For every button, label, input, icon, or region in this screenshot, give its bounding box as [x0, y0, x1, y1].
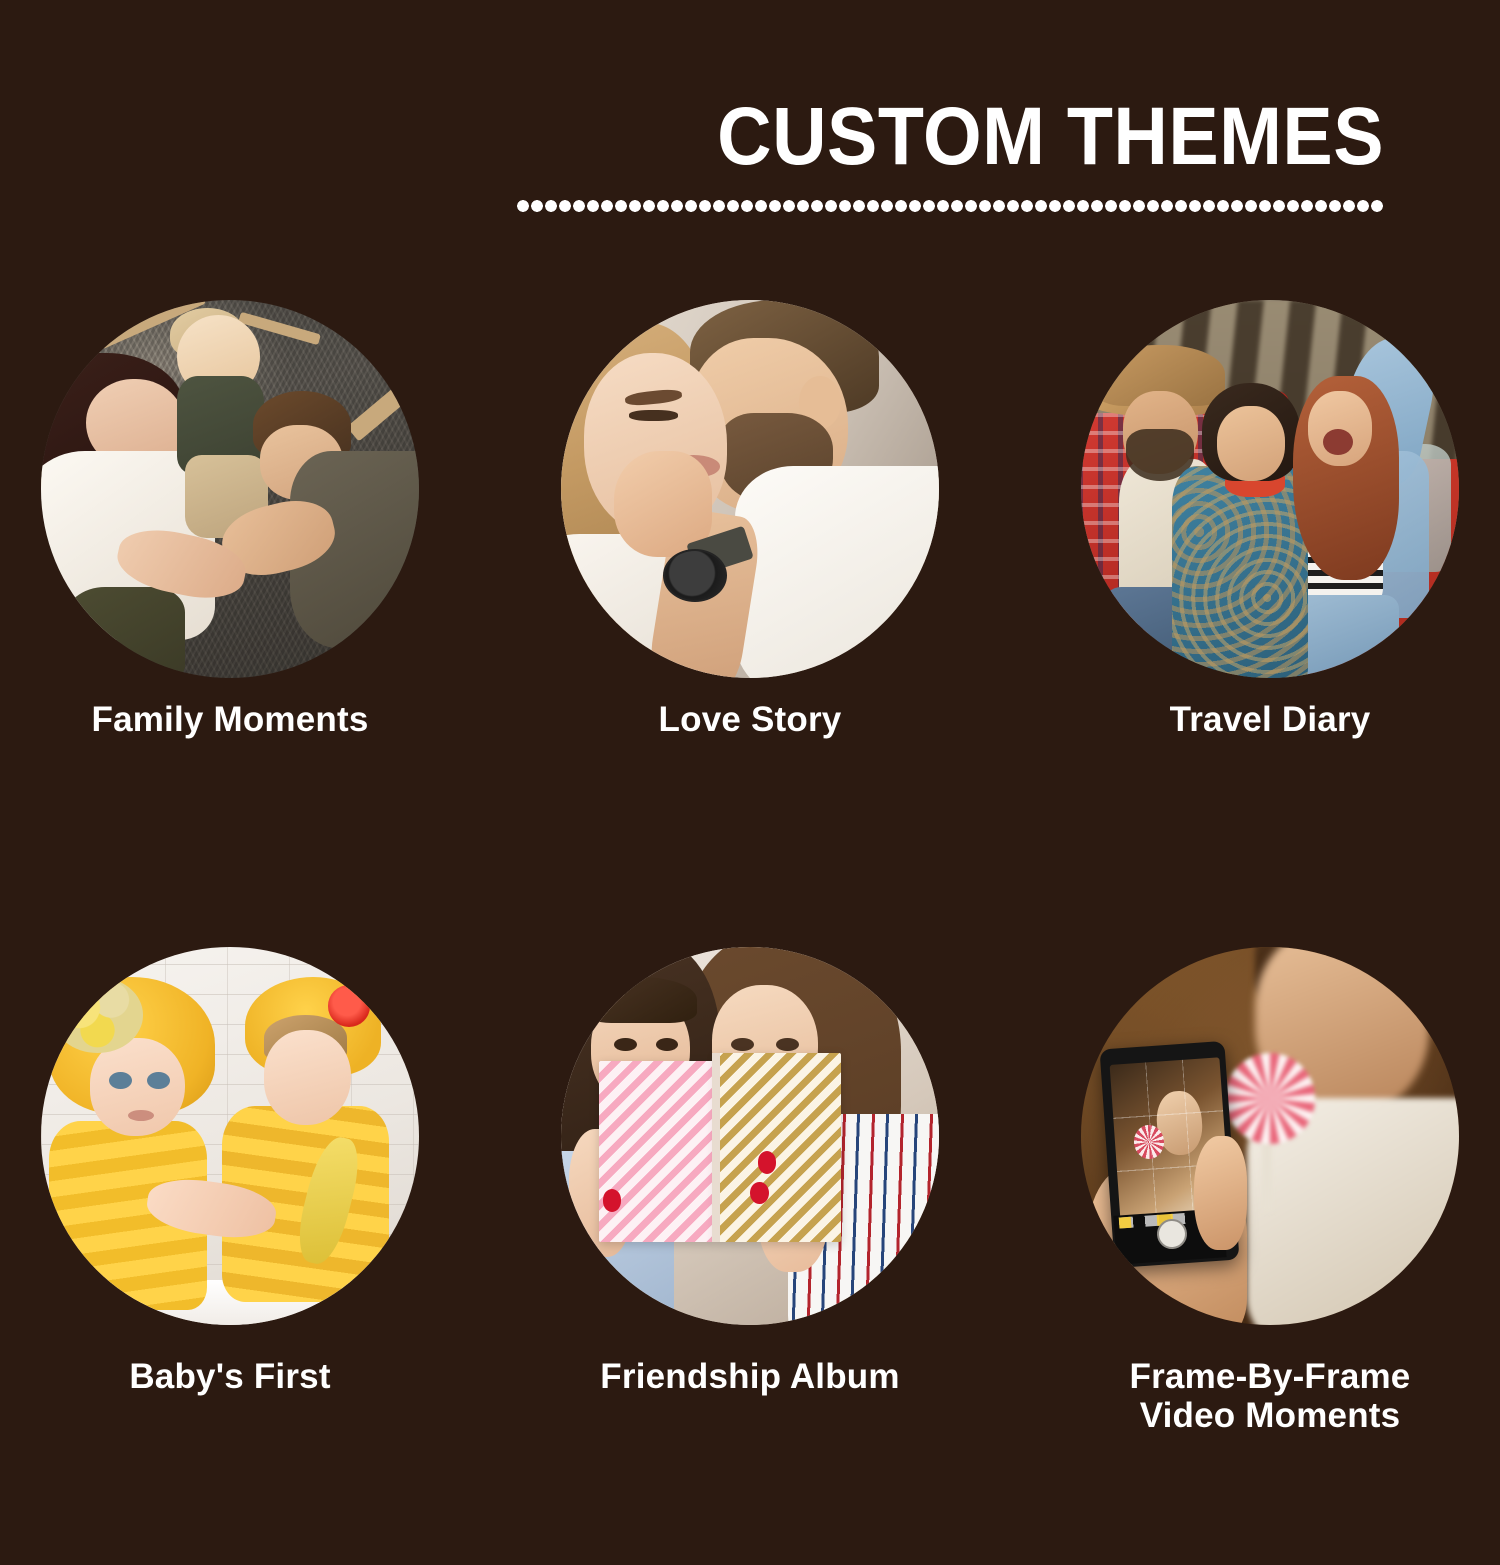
- theme-thumbnail-wrap: [39, 300, 421, 678]
- theme-card-babys-first[interactable]: Baby's First: [35, 947, 425, 1435]
- theme-thumbnail-wrap: [39, 947, 421, 1325]
- theme-image-babys-first[interactable]: [41, 947, 419, 1325]
- theme-thumbnail-wrap: [1079, 300, 1461, 678]
- theme-image-family-moments[interactable]: [41, 300, 419, 678]
- theme-card-family-moments[interactable]: Family Moments: [35, 300, 425, 739]
- theme-card-love-story[interactable]: Love Story: [555, 300, 945, 739]
- page-header: CUSTOM THEMES: [516, 96, 1384, 212]
- theme-image-frame-by-frame[interactable]: [1081, 947, 1459, 1325]
- themes-row-2: Baby's First: [0, 947, 1500, 1435]
- custom-themes-page: CUSTOM THEMES: [0, 0, 1500, 1565]
- theme-image-love-story[interactable]: [561, 300, 939, 678]
- theme-thumbnail-wrap: [559, 300, 941, 678]
- themes-grid: Family Moments: [0, 300, 1500, 1436]
- theme-image-friendship-album[interactable]: [561, 947, 939, 1325]
- theme-card-friendship-album[interactable]: Friendship Album: [555, 947, 945, 1435]
- theme-thumbnail-wrap: [559, 947, 941, 1325]
- theme-thumbnail-wrap: [1079, 947, 1461, 1325]
- theme-image-travel-diary[interactable]: [1081, 300, 1459, 678]
- header-dotted-divider: [516, 200, 1384, 212]
- theme-label-travel-diary: Travel Diary: [1170, 700, 1371, 739]
- theme-label-frame-by-frame: Frame-By-Frame Video Moments: [1130, 1357, 1411, 1435]
- theme-card-travel-diary[interactable]: Travel Diary: [1075, 300, 1465, 739]
- page-title: CUSTOM THEMES: [585, 96, 1384, 178]
- themes-row-1: Family Moments: [0, 300, 1500, 739]
- theme-label-family-moments: Family Moments: [91, 700, 368, 739]
- theme-label-friendship-album: Friendship Album: [600, 1357, 899, 1396]
- theme-card-frame-by-frame[interactable]: Frame-By-Frame Video Moments: [1075, 947, 1465, 1435]
- theme-label-babys-first: Baby's First: [129, 1357, 330, 1396]
- theme-label-love-story: Love Story: [659, 700, 842, 739]
